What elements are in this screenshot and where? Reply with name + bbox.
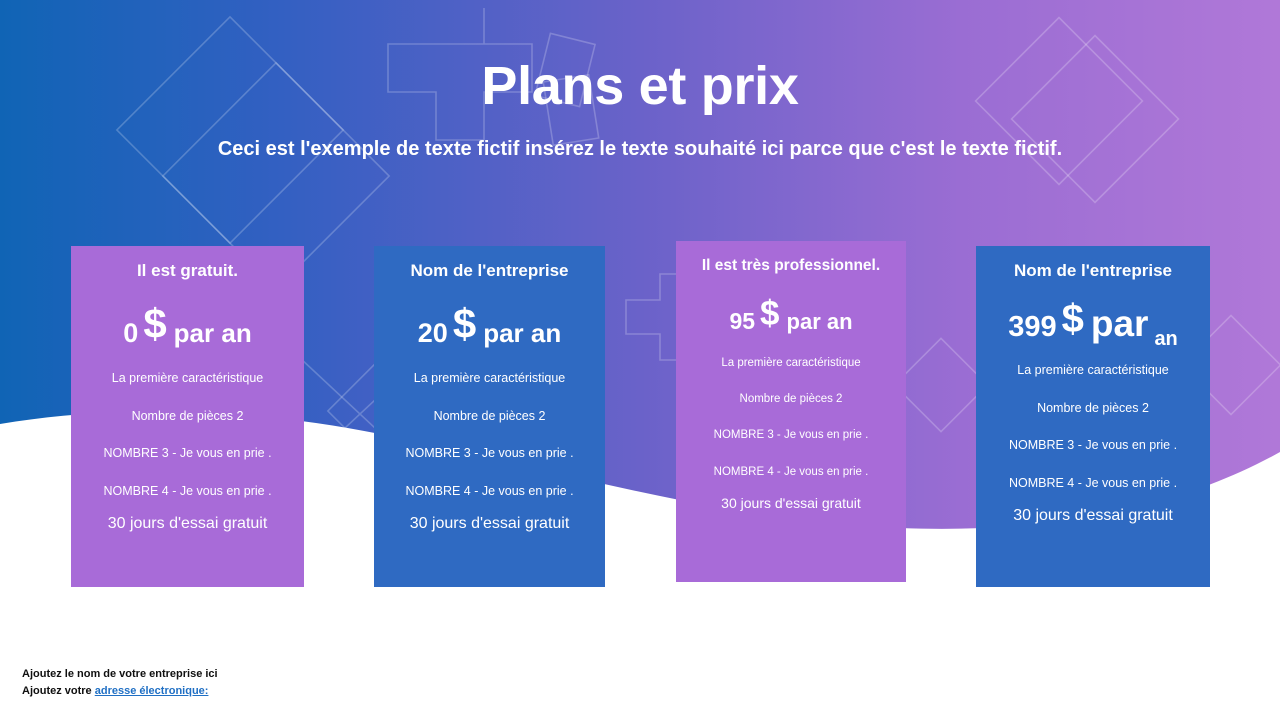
pricing-card-3-price-row: 95$par an — [676, 300, 906, 335]
footer-company-line: Ajoutez le nom de votre entreprise ici — [22, 666, 218, 683]
pricing-card-3-feature-2: Nombre de pièces 2 — [676, 393, 906, 406]
pricing-card-4-feature-2: Nombre de pièces 2 — [976, 401, 1210, 415]
pricing-card-3[interactable]: Il est très professionnel.95$par anLa pr… — [676, 241, 906, 582]
footer-email-link[interactable]: adresse électronique: — [95, 685, 209, 697]
pricing-card-4-price-row: 399$paran — [976, 303, 1210, 343]
price-amount: 0 — [123, 320, 138, 347]
footer-email-line: Ajoutez votre adresse électronique: — [22, 683, 218, 700]
pricing-card-4-feature-1: La première caractéristique — [976, 363, 1210, 377]
price-currency-symbol: $ — [453, 303, 476, 345]
pricing-card-4-feature-4: NOMBRE 4 - Je vous en prie . — [976, 476, 1210, 490]
pricing-card-2-price-row: 20$par an — [374, 307, 605, 349]
price-period: par an — [174, 320, 252, 346]
pricing-card-2-feature-3: NOMBRE 3 - Je vous en prie . — [374, 446, 605, 460]
price-amount: 399 — [1008, 313, 1056, 342]
price-period: par an — [787, 311, 853, 333]
price-amount: 20 — [418, 320, 448, 347]
pricing-card-3-feature-3: NOMBRE 3 - Je vous en prie . — [676, 429, 906, 442]
pricing-card-3-cta[interactable]: 30 jours d'essai gratuit — [676, 495, 906, 511]
pricing-card-3-feature-1: La première caractéristique — [676, 357, 906, 370]
pricing-card-2-feature-2: Nombre de pièces 2 — [374, 409, 605, 423]
pricing-card-2-feature-4: NOMBRE 4 - Je vous en prie . — [374, 484, 605, 498]
price-period-tail: an — [1154, 329, 1177, 349]
pricing-card-2-title: Nom de l'entreprise — [374, 262, 605, 281]
pricing-card-1-feature-4: NOMBRE 4 - Je vous en prie . — [71, 484, 304, 498]
pricing-card-4[interactable]: Nom de l'entreprise399$paranLa première … — [976, 246, 1210, 587]
price-period: par an — [483, 320, 561, 346]
header-block: Plans et prix Ceci est l'exemple de text… — [0, 58, 1280, 162]
price-currency-symbol: $ — [760, 296, 779, 331]
footer: Ajoutez le nom de votre entreprise ici A… — [22, 666, 218, 700]
pricing-card-1-cta[interactable]: 30 jours d'essai gratuit — [71, 515, 304, 533]
footer-email-prefix: Ajoutez votre — [22, 685, 95, 697]
pricing-card-4-title: Nom de l'entreprise — [976, 262, 1210, 281]
price-currency-symbol: $ — [143, 303, 166, 345]
pricing-card-1-title: Il est gratuit. — [71, 262, 304, 281]
page-subtitle: Ceci est l'exemple de texte fictif insér… — [0, 137, 1280, 162]
pricing-card-3-feature-4: NOMBRE 4 - Je vous en prie . — [676, 466, 906, 479]
pricing-card-2-cta[interactable]: 30 jours d'essai gratuit — [374, 515, 605, 533]
pricing-card-1[interactable]: Il est gratuit.0$par anLa première carac… — [71, 246, 304, 587]
price-period: par — [1091, 305, 1149, 342]
pricing-card-3-title: Il est très professionnel. — [676, 257, 906, 274]
page-title: Plans et prix — [0, 58, 1280, 115]
pricing-card-2-feature-1: La première caractéristique — [374, 371, 605, 385]
price-amount: 95 — [729, 310, 755, 333]
price-currency-symbol: $ — [1062, 299, 1084, 339]
pricing-card-1-feature-3: NOMBRE 3 - Je vous en prie . — [71, 446, 304, 460]
pricing-card-1-feature-2: Nombre de pièces 2 — [71, 409, 304, 423]
slide-canvas: Plans et prix Ceci est l'exemple de text… — [0, 0, 1280, 720]
pricing-card-1-feature-1: La première caractéristique — [71, 371, 304, 385]
pricing-card-2[interactable]: Nom de l'entreprise20$par anLa première … — [374, 246, 605, 587]
pricing-card-1-price-row: 0$par an — [71, 307, 304, 349]
pricing-card-4-cta[interactable]: 30 jours d'essai gratuit — [976, 507, 1210, 525]
pricing-card-4-feature-3: NOMBRE 3 - Je vous en prie . — [976, 438, 1210, 452]
